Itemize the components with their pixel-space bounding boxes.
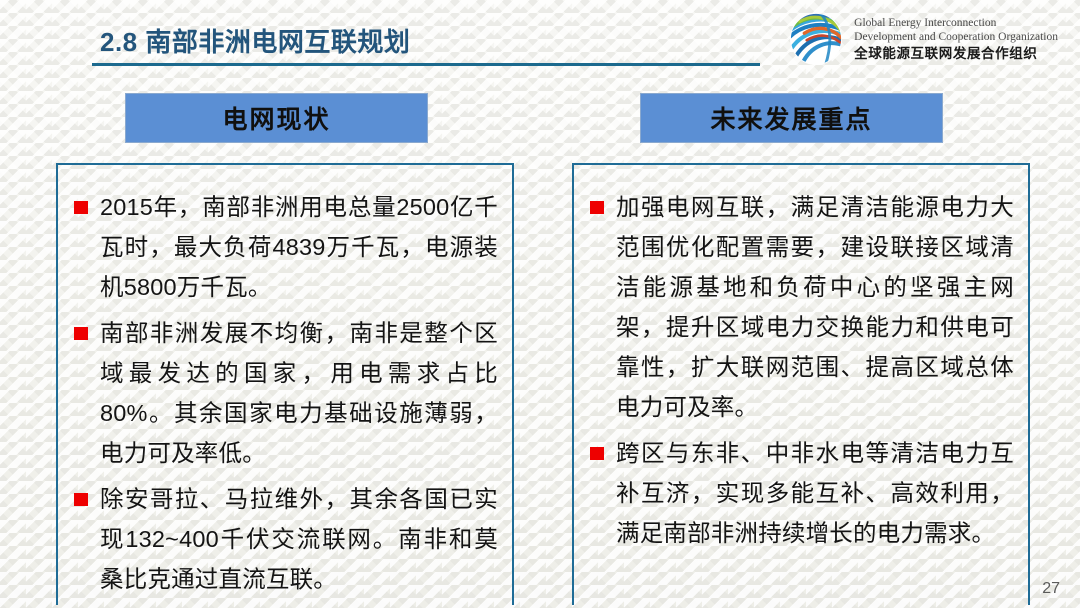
brand-line-3: 全球能源互联网发展合作组织 <box>854 46 1058 62</box>
organization-brand: Global Energy Interconnection Developmen… <box>787 10 1058 68</box>
slide-canvas: 2.8 南部非洲电网互联规划 <box>0 0 1080 608</box>
column-banner-future-focus: 未来发展重点 <box>640 93 943 143</box>
bullet-list-right: 加强电网互联，满足清洁能源电力大范围优化配置需要，建设联接区域清洁能源基地和负荷… <box>588 187 1014 553</box>
content-box-current-grid: 2015年，南部非洲用电总量2500亿千瓦时，最大负荷4839万千瓦，电源装机5… <box>56 163 514 605</box>
header-divider-rule <box>92 63 760 66</box>
brand-line-2: Development and Cooperation Organization <box>854 30 1058 44</box>
page-title: 2.8 南部非洲电网互联规划 <box>100 22 410 59</box>
page-number: 27 <box>1042 580 1060 598</box>
column-banner-label-right: 未来发展重点 <box>710 100 872 136</box>
column-banner-label-left: 电网现状 <box>222 100 330 136</box>
brand-line-1: Global Energy Interconnection <box>854 16 1058 30</box>
list-item: 南部非洲发展不均衡，南非是整个区域最发达的国家，用电需求占比80%。其余国家电力… <box>72 313 498 473</box>
content-box-future-focus: 加强电网互联，满足清洁能源电力大范围优化配置需要，建设联接区域清洁能源基地和负荷… <box>572 163 1030 605</box>
list-item: 加强电网互联，满足清洁能源电力大范围优化配置需要，建设联接区域清洁能源基地和负荷… <box>588 187 1014 427</box>
list-item: 除安哥拉、马拉维外，其余各国已实现132~400千伏交流联网。南非和莫桑比克通过… <box>72 479 498 599</box>
column-banner-current-grid: 电网现状 <box>125 93 428 143</box>
globe-logo-icon <box>787 10 845 68</box>
list-item: 跨区与东非、中非水电等清洁电力互补互济，实现多能互补、高效利用，满足南部非洲持续… <box>588 433 1014 553</box>
bullet-list-left: 2015年，南部非洲用电总量2500亿千瓦时，最大负荷4839万千瓦，电源装机5… <box>72 187 498 599</box>
list-item: 2015年，南部非洲用电总量2500亿千瓦时，最大负荷4839万千瓦，电源装机5… <box>72 187 498 307</box>
